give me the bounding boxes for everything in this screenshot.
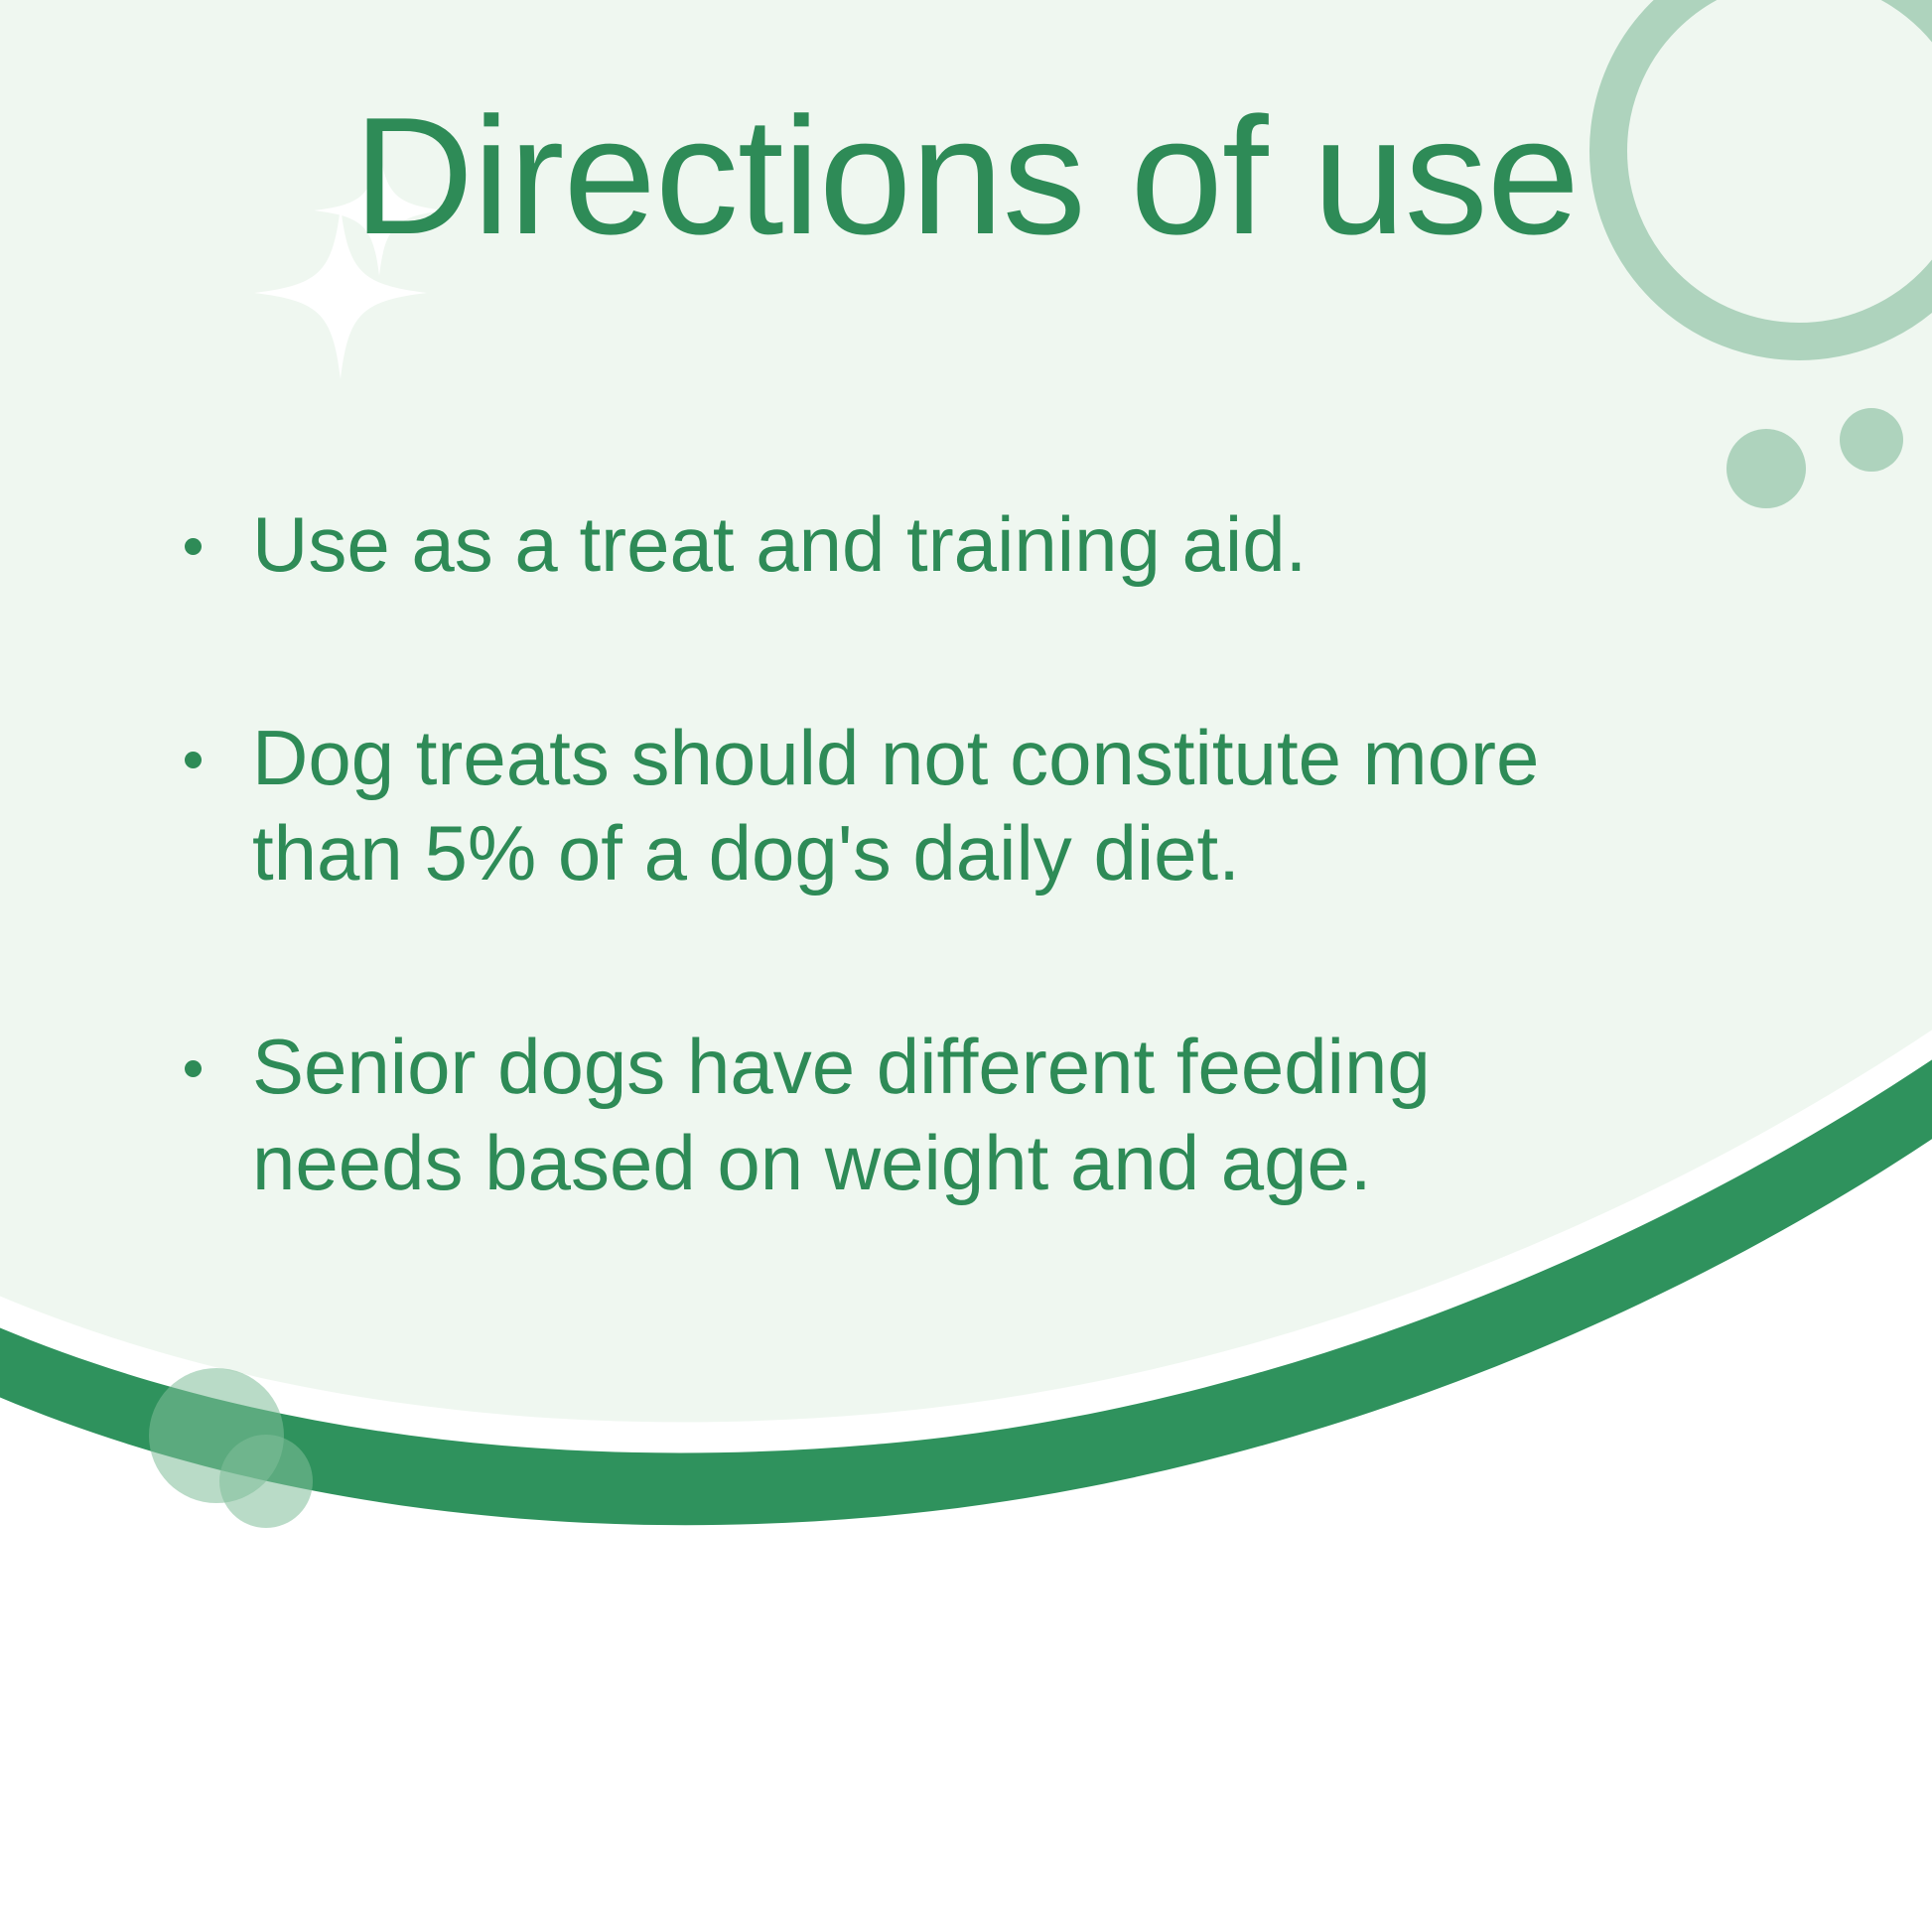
bullet-dot-icon	[185, 538, 202, 555]
bullet-dot-icon	[185, 752, 202, 768]
slide-content: Directions of use Use as a treat and tra…	[0, 0, 1932, 1932]
slide-canvas: Directions of use Use as a treat and tra…	[0, 0, 1932, 1932]
list-item-label: Senior dogs have different feeding needs…	[252, 1019, 1587, 1210]
page-title: Directions of use	[0, 77, 1932, 274]
directions-list: Use as a treat and training aid. Dog tre…	[177, 496, 1587, 1211]
list-item: Senior dogs have different feeding needs…	[177, 1019, 1587, 1210]
bullet-dot-icon	[185, 1060, 202, 1077]
list-item-label: Dog treats should not constitute more th…	[252, 710, 1587, 901]
list-item: Use as a treat and training aid.	[177, 496, 1587, 593]
list-item-label: Use as a treat and training aid.	[252, 496, 1587, 593]
list-item: Dog treats should not constitute more th…	[177, 710, 1587, 901]
